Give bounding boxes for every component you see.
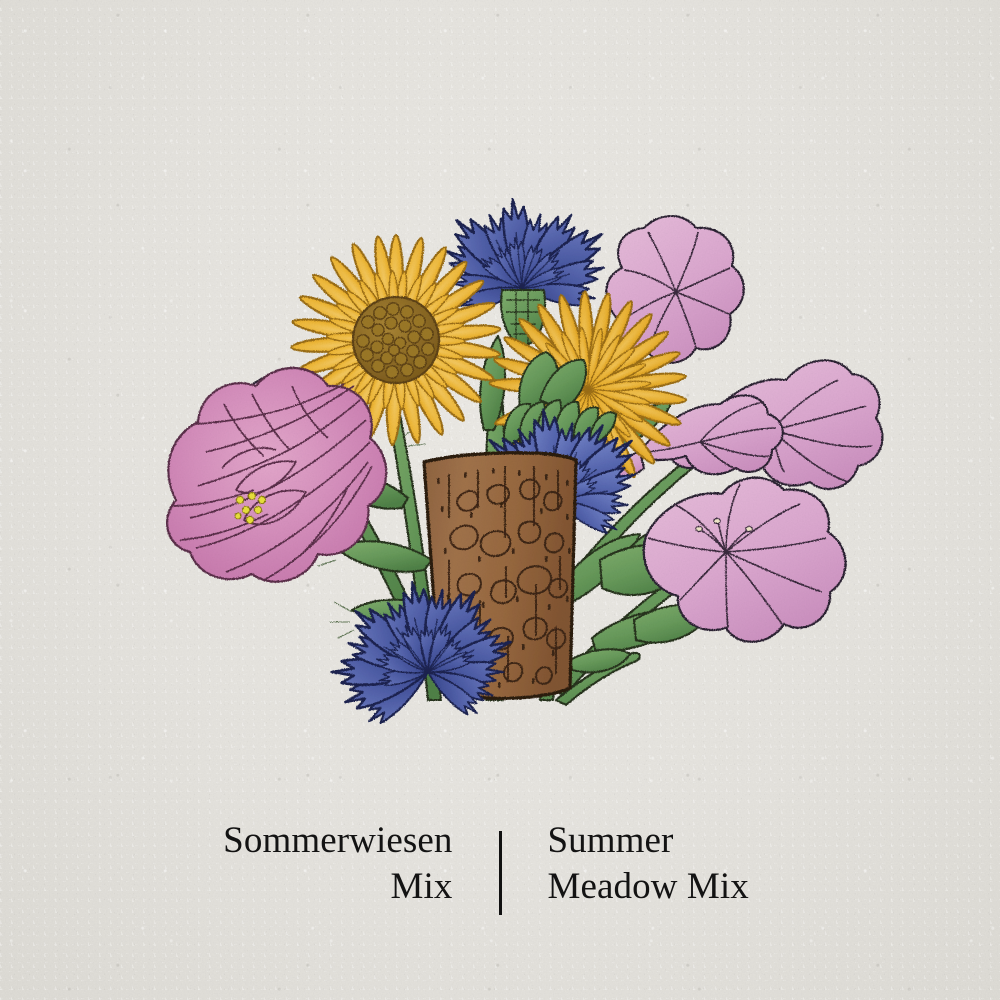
caption-german-line1: Sommerwiesen: [131, 818, 453, 864]
caption-german: Sommerwiesen Mix: [131, 818, 499, 910]
caption-english: Summer Meadow Mix: [502, 818, 870, 910]
caption-german-line2: Mix: [131, 864, 453, 910]
caption-english-line1: Summer: [548, 818, 870, 864]
caption-block: Sommerwiesen Mix Summer Meadow Mix: [0, 818, 1000, 928]
seed-packet-card: Sommerwiesen Mix Summer Meadow Mix: [0, 0, 1000, 1000]
caption-english-line2: Meadow Mix: [548, 864, 870, 910]
